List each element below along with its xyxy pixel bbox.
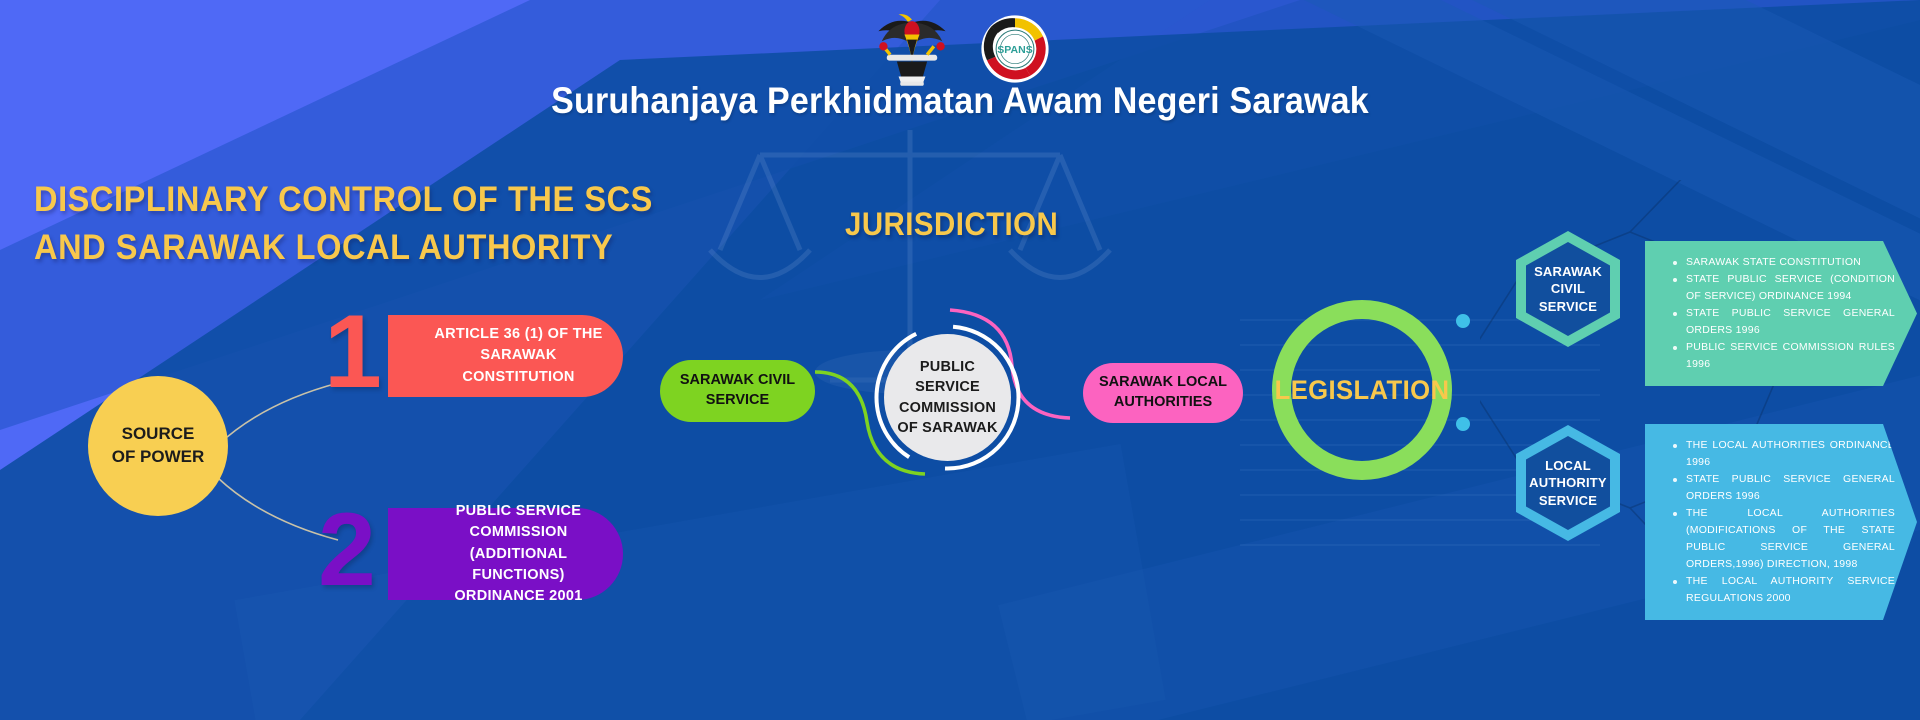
source-of-power-label-line1: SOURCE (122, 423, 195, 446)
source-item-1-number: 1 (324, 300, 382, 404)
source-item-2-text: PUBLIC SERVICE COMMISSION (ADDITIONAL FU… (388, 501, 623, 606)
legislation-connector-dot-bottom (1456, 417, 1470, 431)
jurisdiction-left-node: SARAWAK CIVIL SERVICE (660, 360, 815, 422)
list-item: THE LOCAL AUTHORITY SERVICE REGULATIONS … (1671, 573, 1895, 607)
jurisdiction-center-node: PUBLIC SERVICE COMMISSION OF SARAWAK (884, 334, 1011, 461)
list-item: PUBLIC SERVICE COMMISSION RULES 1996 (1671, 339, 1895, 373)
jurisdiction-right-node: SARAWAK LOCAL AUTHORITIES (1083, 363, 1243, 423)
legislation-list-civil-service: SARAWAK STATE CONSTITUTION STATE PUBLIC … (1671, 254, 1895, 373)
spans-logo-text: SPANS (997, 44, 1032, 56)
legislation-list-local-authority: THE LOCAL AUTHORITIES ORDINANCE 1996 STA… (1671, 437, 1895, 607)
list-item: THE LOCAL AUTHORITIES ORDINANCE 1996 (1671, 437, 1895, 471)
list-item: STATE PUBLIC SERVICE GENERAL ORDERS 1996 (1671, 305, 1895, 339)
source-of-power-node: SOURCE OF POWER (88, 376, 228, 516)
header-logos: SPANS (0, 6, 1920, 90)
hexagon-sarawak-civil-service-label: SARAWAK CIVIL SERVICE (1526, 242, 1610, 336)
list-item: THE LOCAL AUTHORITIES (MODIFICATIONS OF … (1671, 505, 1895, 573)
source-of-power-label-line2: OF POWER (112, 446, 205, 469)
jurisdiction-heading: JURISDICTION (845, 206, 1058, 243)
source-item-1-text: ARTICLE 36 (1) OF THE SARAWAK CONSTITUTI… (388, 324, 623, 387)
page-title-line2: AND SARAWAK LOCAL AUTHORITY (34, 224, 629, 272)
site-title: Suruhanjaya Perkhidmatan Awam Negeri Sar… (77, 80, 1843, 122)
source-item-2-number: 2 (318, 498, 376, 602)
list-item: STATE PUBLIC SERVICE GENERAL ORDERS 1996 (1671, 471, 1895, 505)
hexagon-local-authority-service-label: LOCAL AUTHORITY SERVICE (1526, 436, 1610, 530)
page-title: DISCIPLINARY CONTROL OF THE SCS AND SARA… (34, 176, 629, 273)
source-item-1-pill: ARTICLE 36 (1) OF THE SARAWAK CONSTITUTI… (388, 315, 623, 397)
legislation-panel-local-authority: THE LOCAL AUTHORITIES ORDINANCE 1996 STA… (1645, 424, 1917, 620)
source-item-2-pill: PUBLIC SERVICE COMMISSION (ADDITIONAL FU… (388, 508, 623, 600)
spans-logo-icon: SPANS (980, 14, 1050, 84)
legislation-panel-civil-service: SARAWAK STATE CONSTITUTION STATE PUBLIC … (1645, 241, 1917, 386)
infographic-canvas: SPANS Suruhanjaya Perkhidmatan Awam Nege… (0, 0, 1920, 720)
sarawak-state-crest-icon (870, 6, 954, 90)
list-item: STATE PUBLIC SERVICE (CONDITION OF SERVI… (1671, 271, 1895, 305)
legislation-connector-dot-top (1456, 314, 1470, 328)
page-title-line1: DISCIPLINARY CONTROL OF THE SCS (34, 176, 629, 224)
list-item: SARAWAK STATE CONSTITUTION (1671, 254, 1895, 271)
legislation-title: LEGISLATION (1277, 300, 1448, 480)
